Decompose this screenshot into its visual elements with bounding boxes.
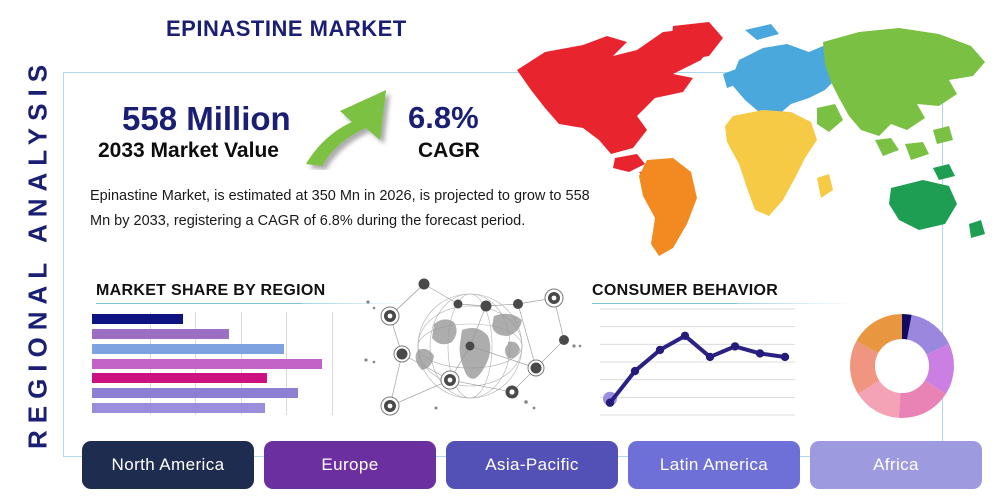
consumer-behavior-line-chart — [600, 308, 795, 416]
bar-chart-bar — [92, 403, 265, 413]
infographic-canvas: REGIONAL ANALYSIS EPINASTINE MARKET 558 … — [0, 0, 1000, 500]
bar-chart-bar — [92, 329, 229, 339]
section-rule-market-share — [96, 303, 301, 304]
region-pill-asia-pacific[interactable]: Asia-Pacific — [446, 441, 618, 489]
growth-arrow-icon — [300, 78, 410, 170]
market-value-caption: 2033 Market Value — [98, 139, 279, 163]
region-pill-north-america[interactable]: North America — [82, 441, 254, 489]
bar-chart-bar — [92, 359, 322, 369]
section-rule-consumer-behavior — [592, 303, 737, 304]
region-pill-africa[interactable]: Africa — [810, 441, 982, 489]
line-chart-marker — [756, 349, 764, 357]
world-map-icon — [487, 12, 995, 270]
bar-chart-bar — [92, 373, 267, 383]
line-chart-marker — [606, 399, 614, 407]
bar-chart-bar — [92, 388, 298, 398]
cagr-figure: 6.8% — [408, 100, 479, 136]
region-pill-europe[interactable]: Europe — [264, 441, 436, 489]
line-chart-marker — [681, 332, 689, 340]
page-title: EPINASTINE MARKET — [166, 16, 407, 42]
line-chart-marker — [731, 342, 739, 350]
market-share-bar-chart — [92, 312, 332, 415]
bar-chart-gridline — [332, 312, 333, 415]
cagr-caption: CAGR — [418, 139, 480, 163]
line-chart-marker — [781, 353, 789, 361]
region-pill-latin-america[interactable]: Latin America — [628, 441, 800, 489]
bar-chart-bar — [92, 344, 284, 354]
section-rule-consumer-fade — [737, 303, 852, 304]
network-globe-icon — [358, 272, 583, 427]
consumer-segments-donut-chart — [848, 312, 956, 420]
region-pill-row: North AmericaEuropeAsia-PacificLatin Ame… — [82, 441, 982, 489]
section-title-consumer-behavior: CONSUMER BEHAVIOR — [592, 282, 778, 300]
line-chart-marker — [631, 367, 639, 375]
line-chart-marker — [706, 353, 714, 361]
market-value-figure: 558 Million — [122, 100, 291, 138]
bar-chart-bar — [92, 314, 183, 324]
side-label-regional-analysis: REGIONAL ANALYSIS — [23, 54, 54, 454]
section-title-market-share: MARKET SHARE BY REGION — [96, 282, 325, 300]
line-chart-marker — [656, 346, 664, 354]
